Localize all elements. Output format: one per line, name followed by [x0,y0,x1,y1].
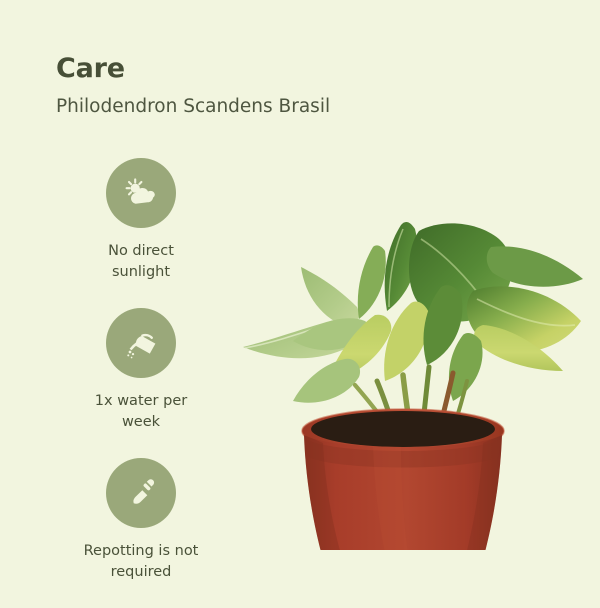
care-item-label-light: No direct sunlight [55,241,227,282]
page-title: Care [56,54,476,84]
care-item-water: 1x water per week [55,308,227,432]
terracotta-pot [302,409,504,550]
care-icon-badge-repotting [106,458,176,528]
care-item-light: No direct sunlight [55,158,227,282]
watering-can-icon [121,323,161,363]
care-feature-list: No direct sunlight [55,158,227,608]
sun-behind-cloud-icon [121,173,161,213]
header: Care Philodendron Scandens Brasil [56,54,476,118]
care-icon-badge-light [106,158,176,228]
plant-species-name: Philodendron Scandens Brasil [56,96,476,118]
care-card: Care Philodendron Scandens Brasil [0,0,600,600]
care-item-label-repotting: Repotting is not required [55,541,227,582]
trowel-icon [121,473,161,513]
plant-product-image [205,195,595,550]
care-icon-badge-water [106,308,176,378]
plant-foliage [243,222,583,423]
care-item-label-water: 1x water per week [55,391,227,432]
care-item-repotting: Repotting is not required [55,458,227,582]
